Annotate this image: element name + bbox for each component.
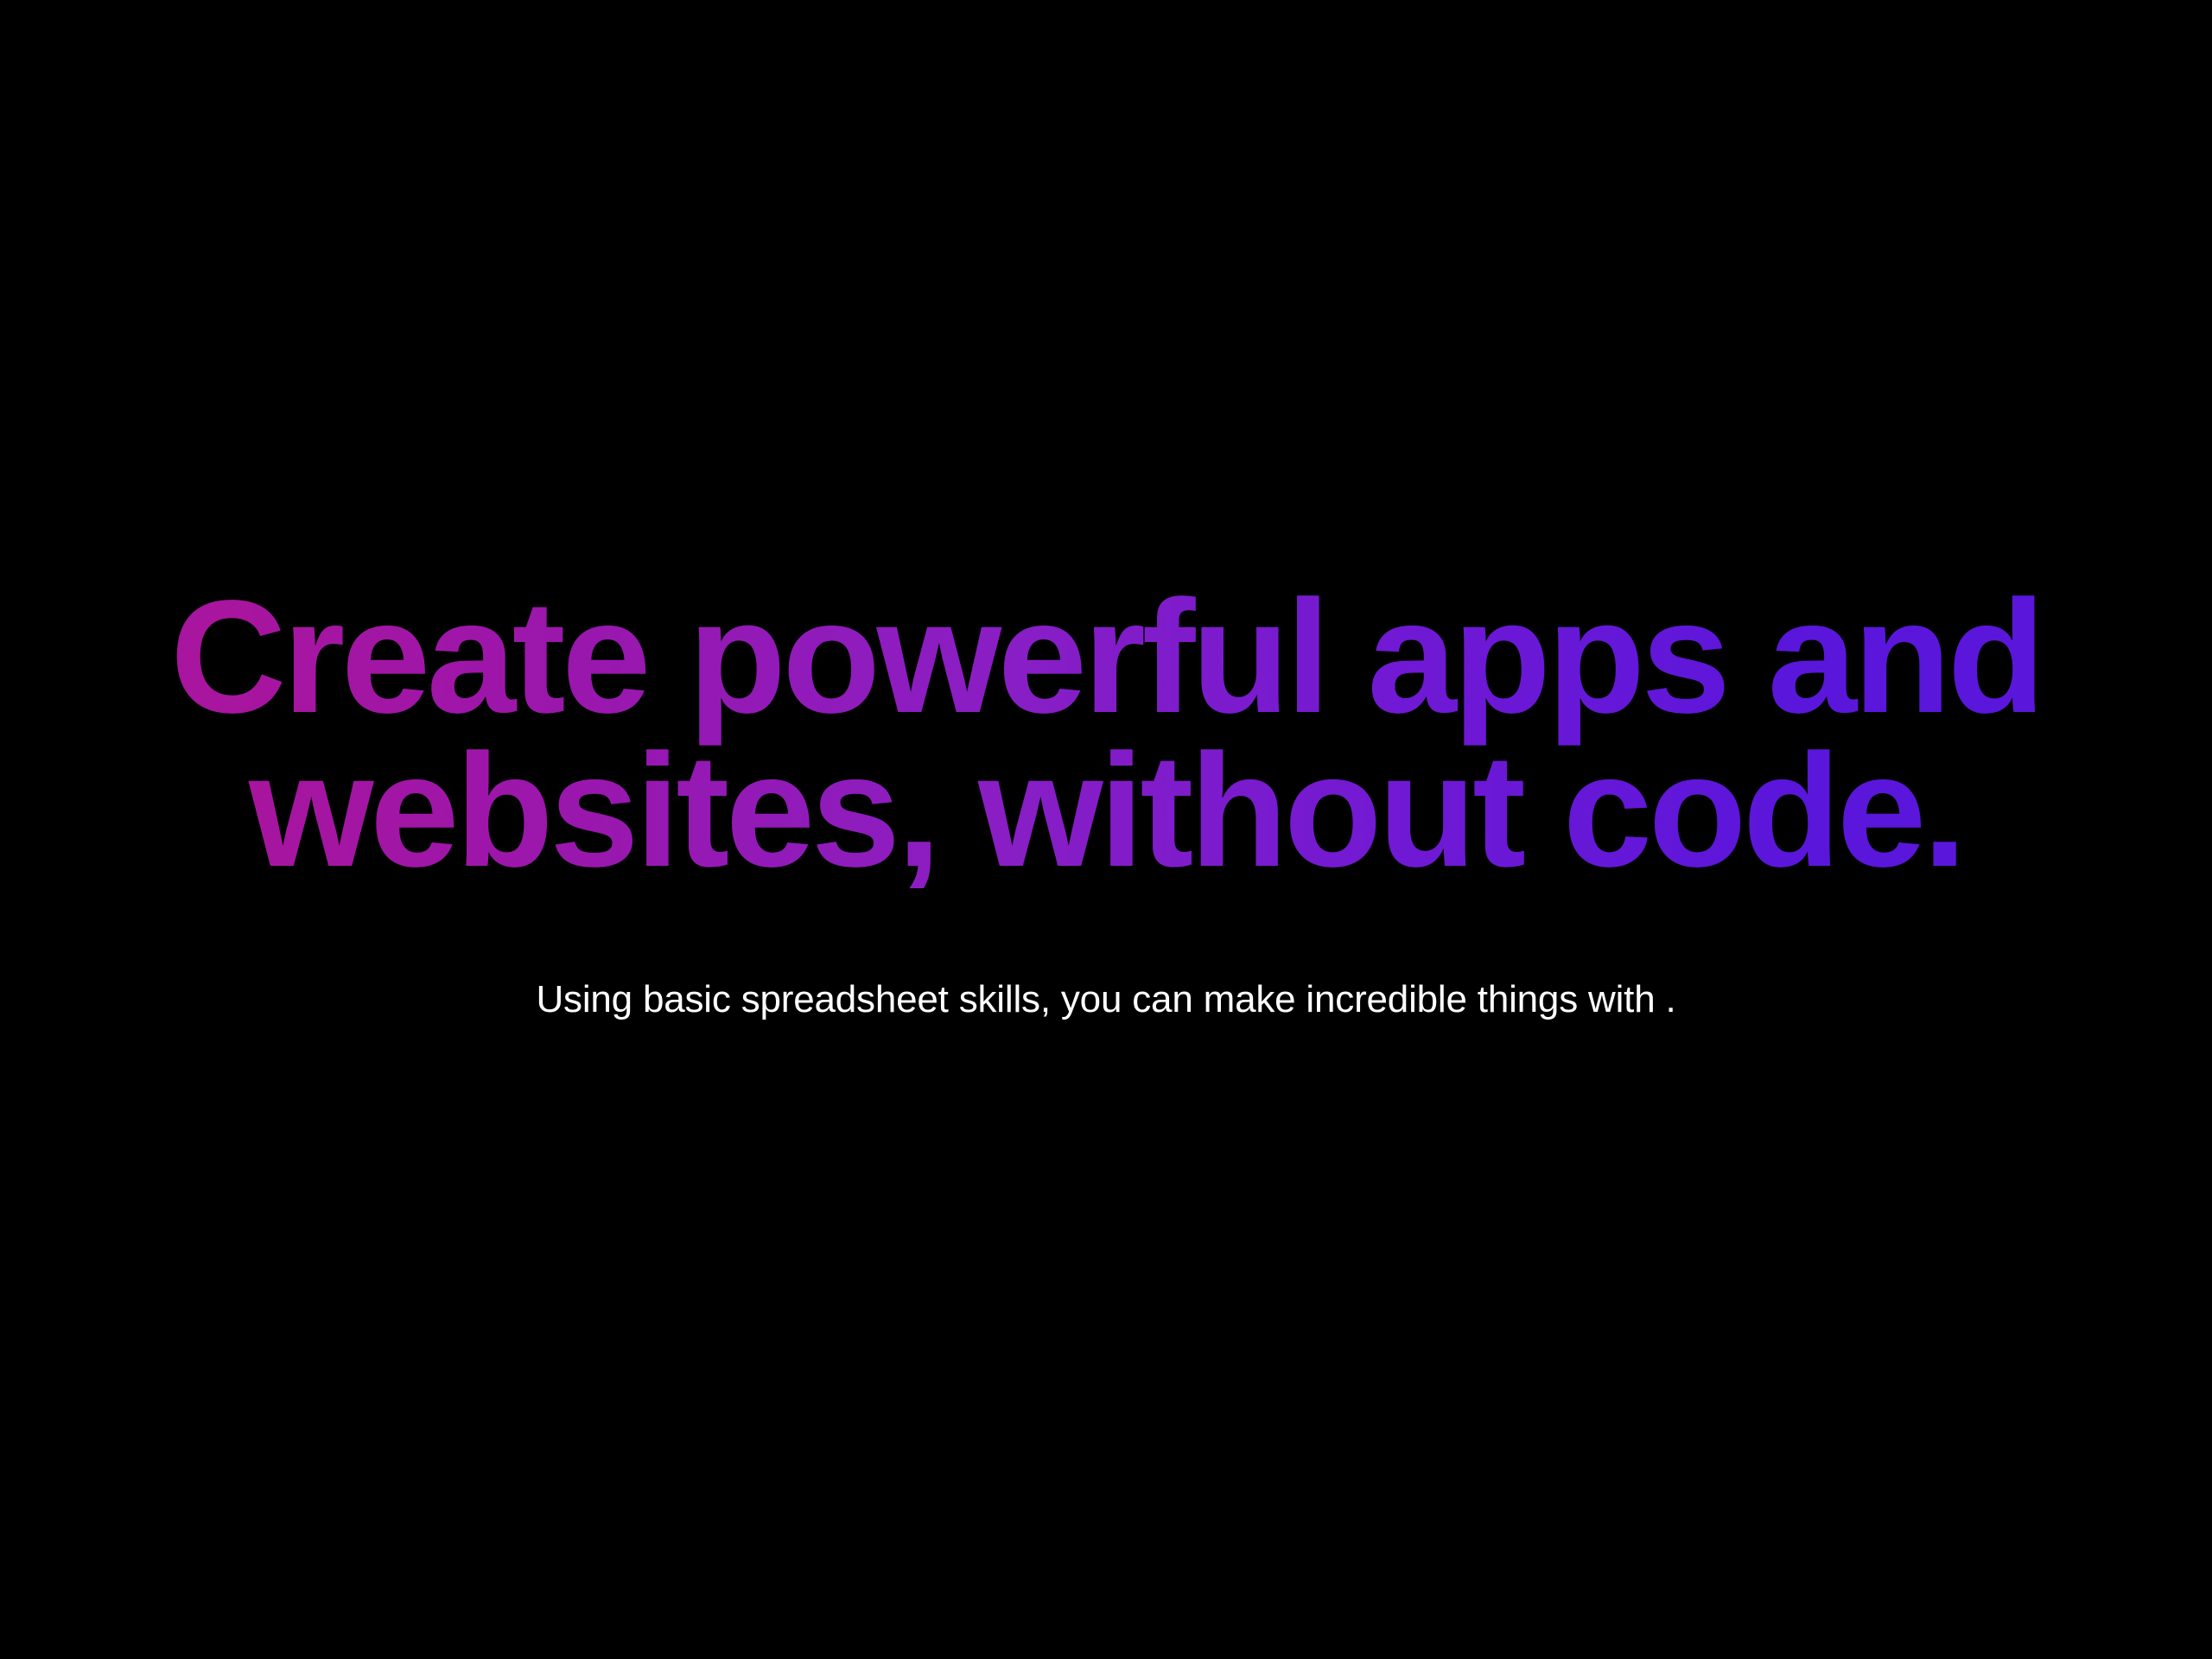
hero-section: Create powerful apps and websites, witho…: [0, 0, 2212, 1659]
subtitle-container: Using basic spreadsheet skills, you can …: [0, 975, 2212, 1025]
hero-content: Create powerful apps and websites, witho…: [0, 0, 2212, 888]
page-title: Create powerful apps and websites, witho…: [0, 581, 2212, 888]
headline-line-1: Create powerful apps and: [0, 581, 2212, 734]
headline-line-2: websites, without code.: [0, 734, 2212, 888]
hero-subtitle: Using basic spreadsheet skills, you can …: [536, 975, 1675, 1025]
